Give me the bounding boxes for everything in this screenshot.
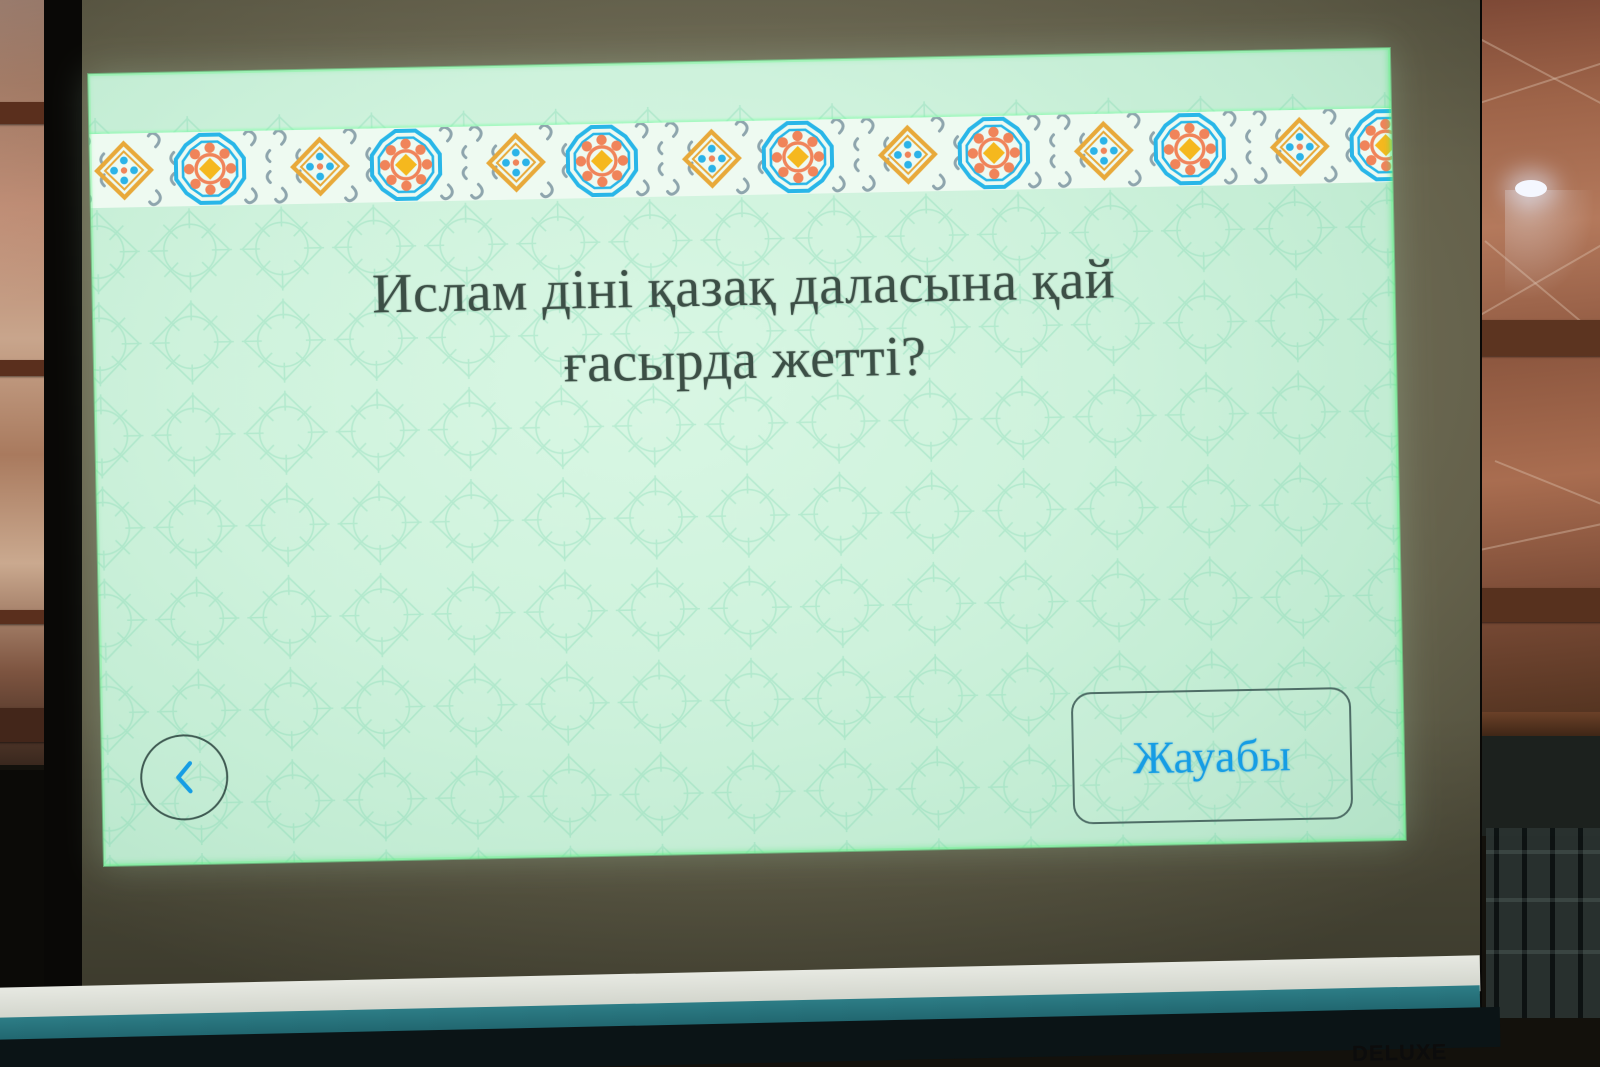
window-right-mullion-1 xyxy=(1475,320,1600,356)
chevron-left-icon xyxy=(173,760,196,794)
tree-branch xyxy=(1475,48,1600,112)
tree-branch xyxy=(1475,30,1600,116)
window-right-mullion-2 xyxy=(1475,588,1600,622)
screenshot-scene: Ислам діні қазақ даласына қай ғасырда же… xyxy=(0,0,1600,1067)
question-text: Ислам діні қазақ даласына қай ғасырда же… xyxy=(196,240,1292,408)
radiator xyxy=(1486,828,1600,1018)
back-button[interactable] xyxy=(139,733,229,821)
street-lamp-glow xyxy=(1505,190,1595,300)
wall-right xyxy=(1478,736,1600,836)
projected-slide: Ислам діні қазақ даласына қай ғасырда же… xyxy=(88,48,1406,866)
street-lamp xyxy=(1515,180,1547,197)
slide-surface: Ислам діні қазақ даласына қай ғасырда же… xyxy=(88,48,1406,866)
tree-branch xyxy=(1495,460,1600,518)
answer-button-label: Жауабы xyxy=(1132,728,1291,784)
answer-button[interactable]: Жауабы xyxy=(1071,687,1354,825)
window-right-sill xyxy=(1478,712,1600,738)
ornamental-border-band xyxy=(89,108,1392,208)
window-right xyxy=(1475,0,1600,725)
brand-label: DELUXE xyxy=(1352,1039,1448,1067)
ornament-svg xyxy=(89,108,1392,208)
tree-branch xyxy=(1475,513,1600,552)
